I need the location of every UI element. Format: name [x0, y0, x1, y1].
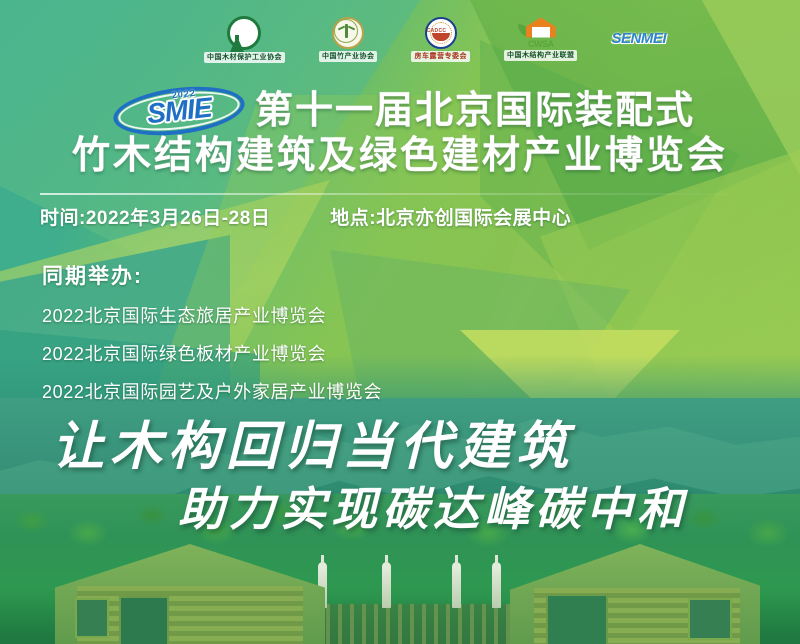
logo-label: 中国竹产业协会	[319, 51, 378, 62]
cabin-window	[75, 598, 109, 638]
concurrent-item: 2022北京国际园艺及户外家居产业博览会	[42, 378, 382, 404]
smie-logo: 2022 SMIE	[113, 88, 245, 134]
logo-label: 中国木材保护工业协会	[204, 52, 285, 63]
logo-senmei: SENMEI	[611, 30, 666, 48]
event-date: 时间:2022年3月26日-28日	[40, 203, 270, 230]
patio-umbrella	[382, 562, 391, 608]
smie-wordmark: SMIE	[145, 92, 212, 131]
logo-cwsa-china-wood-structure-alliance: CWSA 中国木结构产业联盟	[504, 18, 578, 61]
title-row-one: 2022 SMIE 第十一届北京国际装配式	[0, 88, 800, 134]
logo-china-wood-protection-industry-association: 中国木材保护工业协会	[204, 16, 285, 63]
concurrent-events: 同期举办: 2022北京国际生态旅居产业博览会 2022北京国际绿色板材产业博览…	[42, 260, 382, 416]
logo-label: 中国木结构产业联盟	[504, 50, 578, 61]
senmei-leaf-icon: SENMEI	[611, 30, 666, 48]
title-block: 2022 SMIE 第十一届北京国际装配式 竹木结构建筑及绿色建材产业博览会	[0, 88, 800, 178]
concurrent-item: 2022北京国际生态旅居产业博览会	[42, 302, 382, 328]
wooden-cabin-right	[510, 544, 760, 644]
logo-cadcc-rv-camping-committee: CADCC 房车露营专委会	[411, 17, 470, 62]
concurrent-item: 2022北京国际绿色板材产业博览会	[42, 340, 382, 366]
patio-umbrella	[452, 562, 461, 608]
page-title-line-2: 竹木结构建筑及绿色建材产业博览会	[0, 135, 800, 178]
house-leaf-icon: CWSA	[518, 18, 564, 48]
tree-in-ring-icon	[227, 16, 261, 50]
cabin-door	[119, 596, 169, 644]
logo-abbr: CWSA	[518, 39, 564, 49]
slogan-line-2: 助力实现碳达峰碳中和	[0, 485, 800, 533]
page-title-line-1: 第十一届北京国际装配式	[255, 90, 695, 133]
logo-china-bamboo-industry-association: 中国竹产业协会	[319, 17, 378, 62]
event-venue: 地点:北京亦创国际会展中心	[330, 203, 571, 230]
sponsor-logo-strip: 中国木材保护工业协会 中国竹产业协会 CADCC 房车露营专委会 CWSA 中国…	[0, 6, 800, 72]
deck-railing	[290, 604, 540, 644]
logo-abbr: SENMEI	[611, 30, 666, 47]
cabin-window	[688, 598, 732, 640]
slogan-line-1: 让木构回归当代建筑	[0, 420, 800, 475]
bamboo-seal-icon	[332, 17, 364, 49]
title-divider	[40, 193, 740, 195]
cabin-wall	[77, 586, 303, 644]
wooden-cabin-left	[55, 544, 325, 644]
concurrent-heading: 同期举办:	[42, 260, 382, 290]
cadcc-seal-icon: CADCC	[425, 17, 457, 49]
exhibition-poster: 中国木材保护工业协会 中国竹产业协会 CADCC 房车露营专委会 CWSA 中国…	[0, 0, 800, 644]
patio-umbrella	[492, 562, 501, 608]
logo-label: 房车露营专委会	[411, 51, 470, 62]
cabin-door	[546, 594, 608, 644]
event-meta: 时间:2022年3月26日-28日 地点:北京亦创国际会展中心	[40, 203, 571, 230]
slogan-block: 让木构回归当代建筑 助力实现碳达峰碳中和	[0, 420, 800, 533]
